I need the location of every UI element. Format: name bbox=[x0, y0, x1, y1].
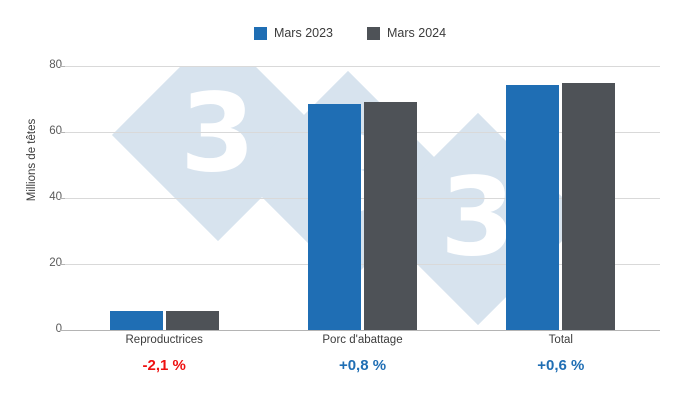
legend-swatch-icon bbox=[367, 27, 380, 40]
legend-label: Mars 2024 bbox=[387, 27, 446, 40]
x-group-label: Porc d'abattage bbox=[263, 334, 463, 348]
x-group-delta-annotation: +0,6 % bbox=[461, 357, 661, 375]
x-group-label: Total bbox=[461, 334, 661, 348]
legend-item-mars-2023[interactable]: Mars 2023 bbox=[254, 27, 333, 40]
x-axis-labels: Reproductrices-2,1 %Porc d'abattage+0,8 … bbox=[65, 334, 660, 394]
bar-chart: Mars 2023 Mars 2024 3 3 3 020406080 Mill… bbox=[0, 0, 700, 400]
y-axis-title: Millions de têtes bbox=[26, 40, 38, 280]
legend-swatch-icon bbox=[254, 27, 267, 40]
bar-1-0[interactable] bbox=[166, 311, 219, 330]
bar-1-1[interactable] bbox=[364, 102, 417, 330]
x-group-delta-annotation: -2,1 % bbox=[64, 357, 264, 375]
x-group-delta-annotation: +0,8 % bbox=[263, 357, 463, 375]
y-tick-label: 0 bbox=[2, 324, 62, 336]
bar-1-2[interactable] bbox=[562, 83, 615, 330]
gridline bbox=[65, 330, 660, 331]
x-group-label: Reproductrices bbox=[64, 334, 264, 348]
legend-item-mars-2024[interactable]: Mars 2024 bbox=[367, 27, 446, 40]
x-group-1: Porc d'abattage+0,8 % bbox=[263, 334, 463, 375]
x-group-0: Reproductrices-2,1 % bbox=[64, 334, 264, 375]
bar-0-2[interactable] bbox=[506, 85, 559, 330]
chart-legend: Mars 2023 Mars 2024 bbox=[0, 27, 700, 40]
bars-layer bbox=[65, 66, 660, 330]
bar-0-0[interactable] bbox=[110, 311, 163, 330]
bar-0-1[interactable] bbox=[308, 104, 361, 330]
legend-label: Mars 2023 bbox=[274, 27, 333, 40]
x-group-2: Total+0,6 % bbox=[461, 334, 661, 375]
